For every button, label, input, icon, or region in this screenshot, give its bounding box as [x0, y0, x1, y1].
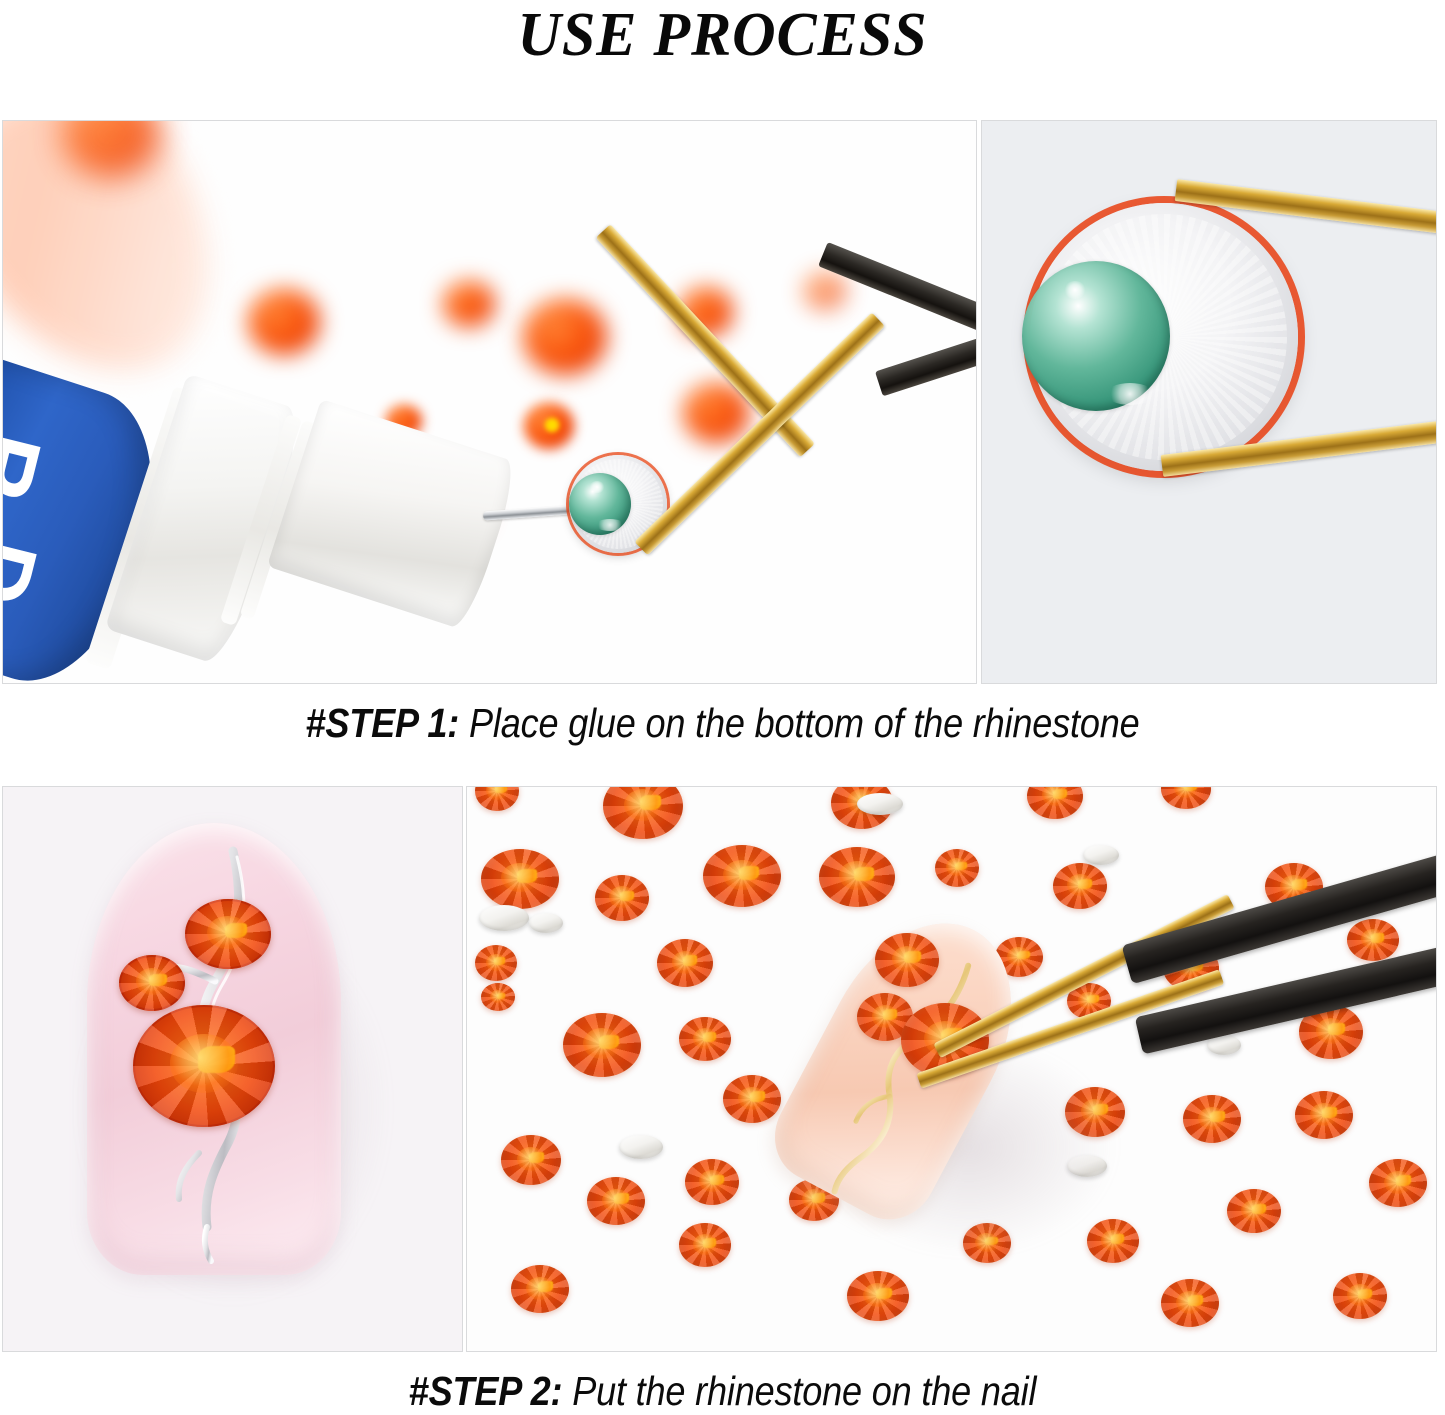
scattered-rhinestone: [481, 983, 515, 1011]
scattered-rhinestone: [1347, 919, 1399, 961]
rhinestone-macro-art: [982, 121, 1436, 683]
scattered-rhinestone: [481, 849, 559, 909]
scattered-rhinestone: [595, 875, 649, 921]
blurred-stone: [803, 271, 847, 311]
glue-highlight: [589, 481, 605, 493]
nail-rhinestone: [875, 933, 939, 987]
infographic-page: USE PROCESS: [0, 0, 1445, 1412]
gem-highlight: [149, 974, 166, 986]
finished-nail-art: [3, 787, 462, 1351]
scattered-rhinestone: [1161, 1279, 1219, 1327]
step-1-image-row: R D: [0, 120, 1445, 684]
step-2-image-row: [0, 786, 1445, 1352]
scattered-rhinestone: [603, 786, 683, 839]
scattered-rhinestone: [1161, 786, 1211, 809]
step-2-caption: #STEP 2: Put the rhinestone on the nail: [87, 1368, 1359, 1415]
gem-highlight: [198, 1046, 235, 1073]
scattered-rhinestone: [723, 1075, 781, 1123]
nail-rhinestone-large: [133, 1005, 275, 1127]
step-2-label: #STEP 2:: [409, 1368, 563, 1414]
scattered-rhinestone: [475, 945, 517, 981]
scattered-rhinestone: [847, 1271, 909, 1321]
scattered-rhinestone: [679, 1223, 731, 1267]
scattered-rhinestone: [501, 1135, 561, 1185]
scattered-rhinestone: [935, 849, 979, 887]
placing-rhinestone-art: [467, 787, 1436, 1351]
scattered-rhinestone-flat: [479, 905, 529, 931]
glue-highlight: [1106, 383, 1154, 405]
rhinestone-macro-photo: [981, 120, 1437, 684]
glue-highlight: [1064, 281, 1086, 299]
scattered-rhinestone-flat: [857, 793, 903, 815]
scattered-rhinestone: [563, 1013, 641, 1077]
scattered-rhinestone: [685, 1159, 739, 1205]
scattered-rhinestone-flat: [1083, 845, 1119, 865]
scattered-rhinestone: [475, 786, 519, 811]
step-1-caption: #STEP 1: Place glue on the bottom of the…: [87, 700, 1359, 747]
blurred-stone: [523, 299, 607, 375]
scattered-rhinestone: [1087, 1219, 1139, 1263]
scattered-rhinestone: [1333, 1273, 1387, 1319]
scattered-rhinestone: [1053, 863, 1107, 909]
glue-highlight: [595, 519, 625, 531]
scattered-rhinestone-flat: [529, 913, 563, 933]
scattered-rhinestone: [1227, 1189, 1281, 1233]
scattered-rhinestone: [657, 939, 713, 987]
step-1-label: #STEP 1:: [305, 700, 459, 746]
nail-rhinestone-medium: [185, 899, 271, 969]
page-title: USE PROCESS: [22, 0, 1424, 66]
tweezer-arm-lower: [634, 312, 885, 555]
step-2-text: Put the rhinestone on the nail: [562, 1368, 1036, 1414]
placing-rhinestone-photo: [466, 786, 1437, 1352]
blurred-stone: [248, 289, 320, 355]
scattered-rhinestone-flat: [619, 1135, 663, 1159]
scattered-rhinestone: [1027, 786, 1083, 819]
scattered-rhinestone: [679, 1017, 731, 1061]
nail-rhinestone-small: [119, 955, 185, 1011]
step-1-text: Place glue on the bottom of the rhinesto…: [459, 700, 1139, 746]
scattered-rhinestone: [1295, 1091, 1353, 1139]
finished-nail-photo: [2, 786, 463, 1352]
scattered-rhinestone: [1369, 1159, 1427, 1207]
tweezer-handle-lower: [875, 313, 977, 396]
blurred-stone: [443, 281, 495, 327]
glue-application-art: R D: [3, 121, 976, 683]
scattered-rhinestone: [819, 847, 895, 907]
glue-application-photo: R D: [2, 120, 977, 684]
stone-sparkle: [543, 417, 561, 433]
gem-highlight: [225, 923, 247, 938]
scattered-rhinestone: [511, 1265, 569, 1313]
scattered-rhinestone: [1183, 1095, 1241, 1143]
scattered-rhinestone: [703, 845, 781, 907]
scattered-rhinestone: [587, 1177, 645, 1225]
